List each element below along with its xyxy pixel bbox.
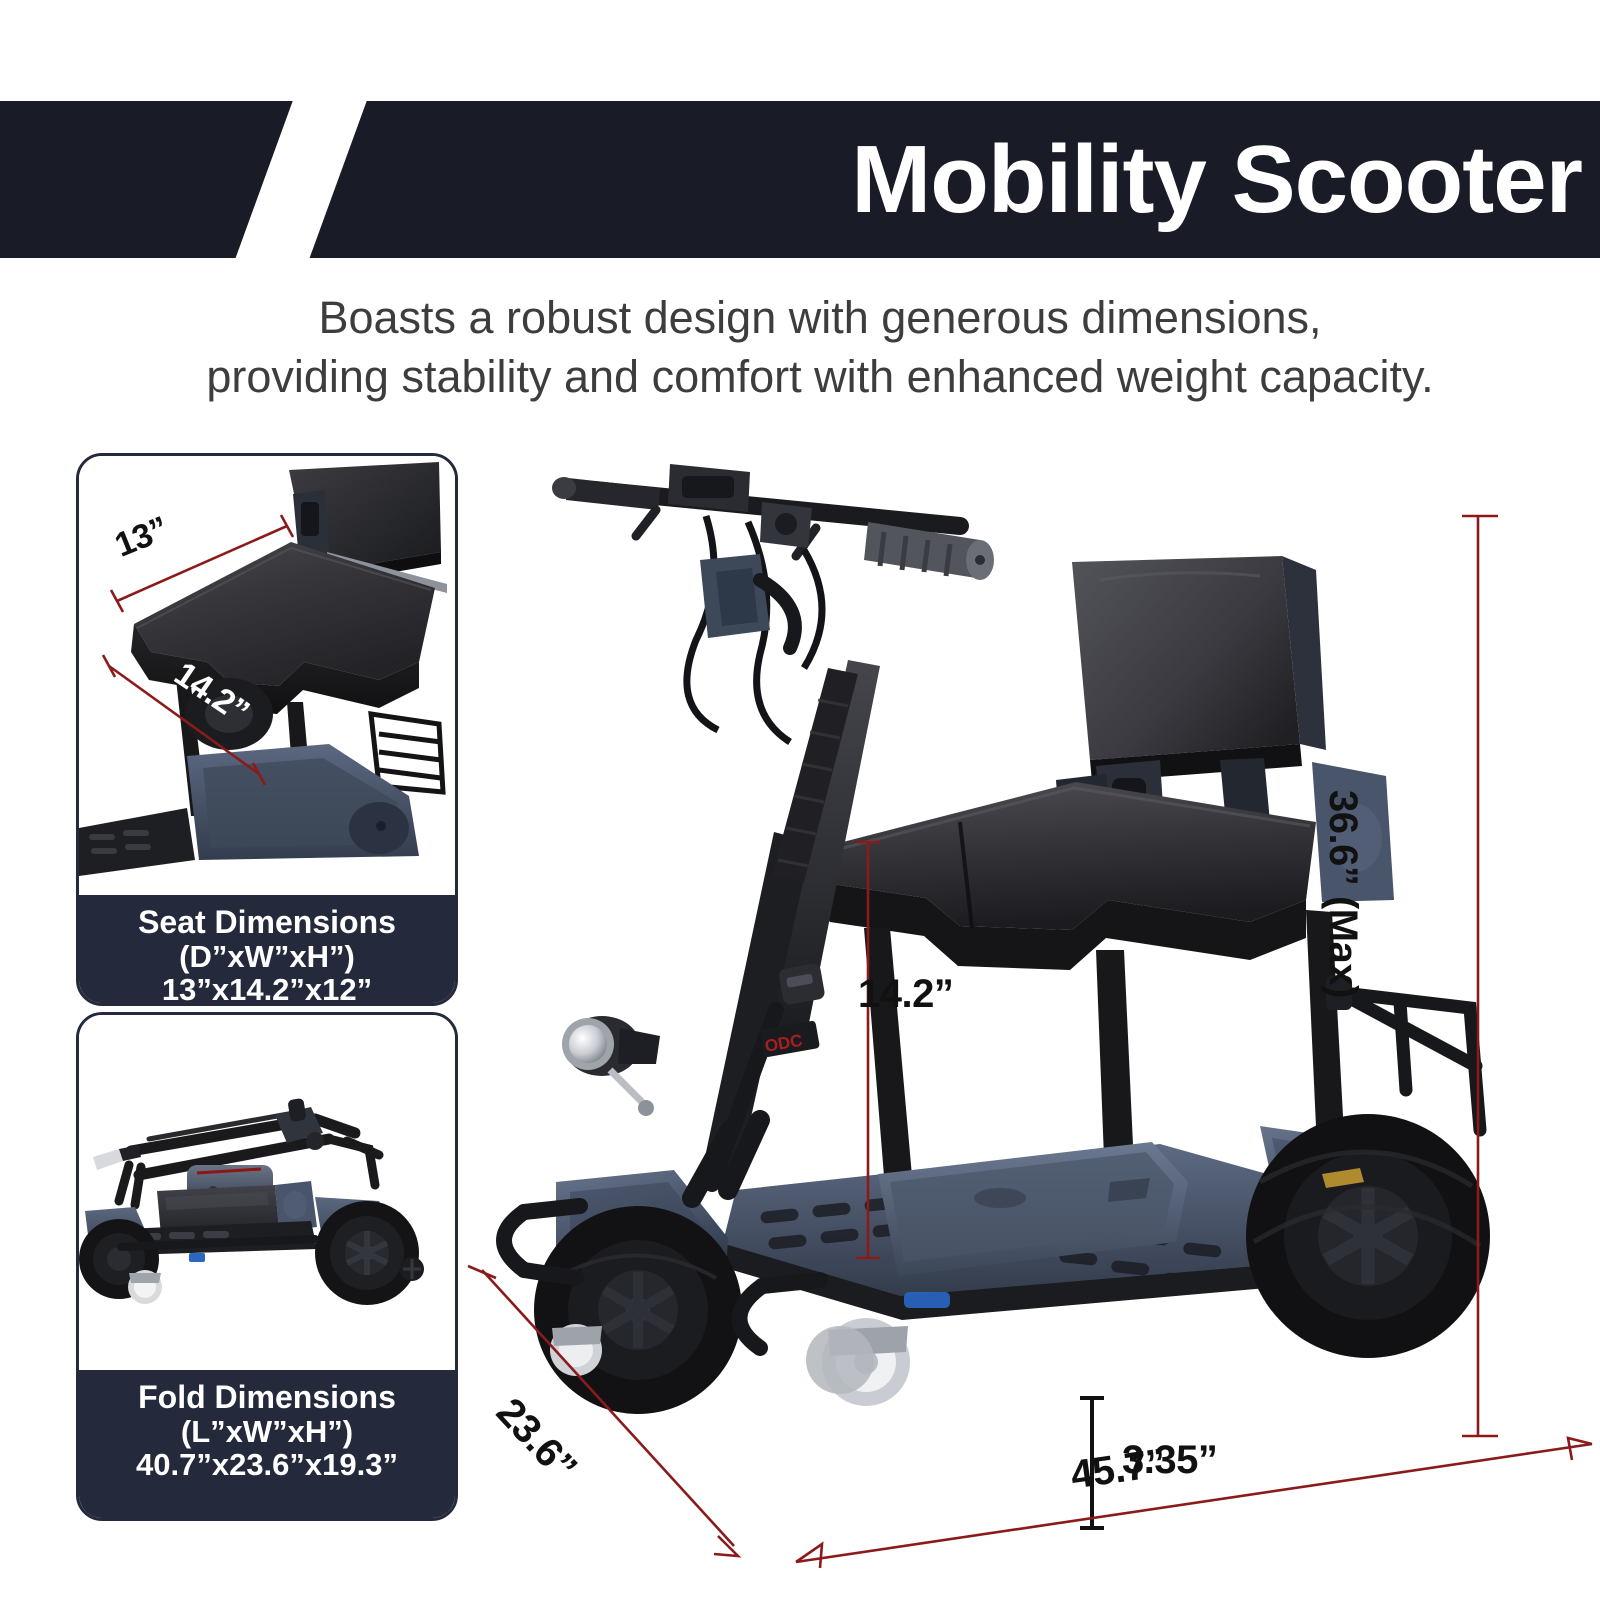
fold-dimensions-card[interactable]: Fold Dimensions (L”xW”xH”) 40.7”x23.6”x1…	[76, 1012, 458, 1521]
main-product-illustration: ODC	[460, 430, 1600, 1590]
fold-caption-title: Fold Dimensions	[85, 1380, 449, 1415]
seat-caption-format: (D”xW”xH”)	[85, 940, 449, 973]
seat-height-label: 14.2”	[858, 972, 953, 1017]
overall-height-label: 36.6” (Max)	[1320, 790, 1365, 998]
subtitle: Boasts a robust design with generous dim…	[120, 288, 1520, 407]
fold-caption-values: 40.7”x23.6”x19.3”	[85, 1448, 449, 1481]
header-band: Mobility Scooter	[0, 101, 1600, 258]
seat-caption-title: Seat Dimensions	[85, 905, 449, 940]
fold-card-caption: Fold Dimensions (L”xW”xH”) 40.7”x23.6”x1…	[79, 1370, 455, 1518]
header-diagonal-slash	[227, 101, 374, 258]
fold-caption-format: (L”xW”xH”)	[85, 1415, 449, 1448]
seat-photo: 13” 14.2”	[79, 456, 455, 896]
subtitle-line-2: providing stability and comfort with enh…	[120, 347, 1520, 406]
seat-caption-values: 13”x14.2”x12”	[85, 973, 449, 1006]
seat-card-caption: Seat Dimensions (D”xW”xH”) 13”x14.2”x12”	[79, 895, 455, 1003]
page-title: Mobility Scooter	[851, 132, 1582, 228]
subtitle-line-1: Boasts a robust design with generous dim…	[120, 288, 1520, 347]
seat-dimensions-card[interactable]: 13” 14.2” Seat Dimensions (D”xW”xH”) 13”…	[76, 453, 458, 1006]
folded-scooter-photo	[79, 1015, 455, 1367]
